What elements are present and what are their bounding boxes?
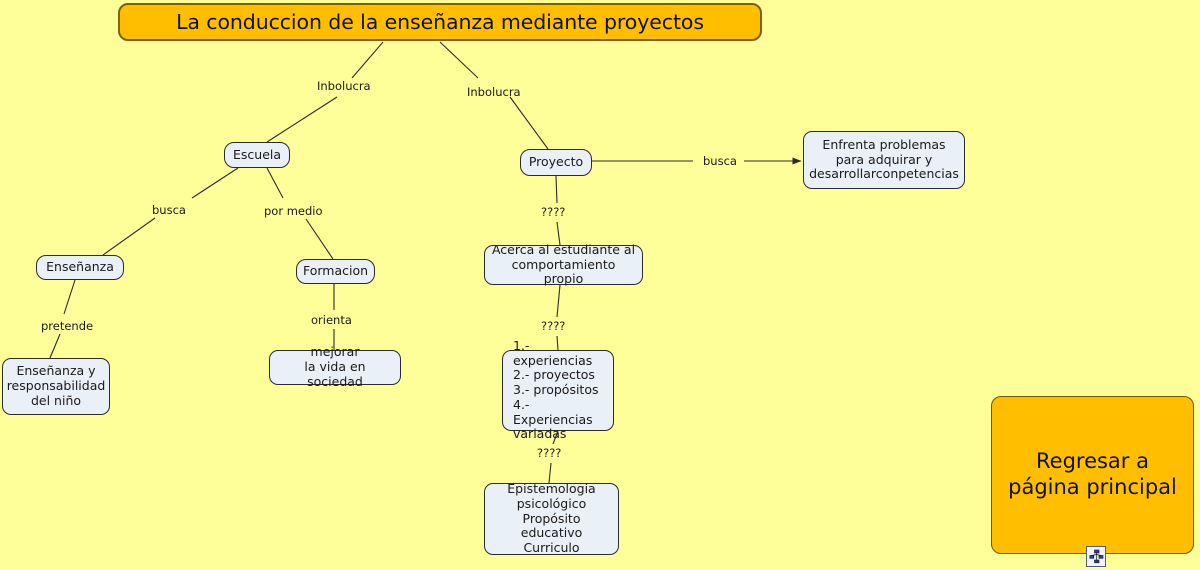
regresar-pagina-principal-button[interactable]: Regresar a página principal — [991, 396, 1194, 554]
edge-acerca-to-q2 — [557, 285, 560, 317]
edge-label-q1: ???? — [541, 205, 565, 219]
edge-label-inbolucra-right: Inbolucra — [467, 85, 521, 99]
edge-label-orienta: orienta — [311, 313, 352, 327]
edge-escuela-to-pormedio — [267, 168, 283, 198]
page-title[interactable]: La conduccion de la enseñanza mediante p… — [118, 3, 762, 41]
node-proyecto[interactable]: Proyecto — [520, 149, 592, 176]
edge-label-inbolucra-left: Inbolucra — [317, 79, 371, 93]
edge-title-to-inbolucra-right — [440, 42, 478, 78]
node-ensenanza-responsabilidad[interactable]: Enseñanza y responsabilidad del niño — [2, 358, 110, 415]
node-mejorar-vida-sociedad[interactable]: mejorar la vida en sociedad — [269, 350, 401, 385]
edge-q3-to-epistemologia — [549, 463, 551, 483]
node-enfrenta-problemas[interactable]: Enfrenta problemas para adquirar y desar… — [803, 131, 965, 189]
edge-label-por-medio: por medio — [264, 204, 323, 218]
edge-label-q3: ???? — [537, 446, 561, 460]
concept-map-canvas: La conduccion de la enseñanza mediante p… — [0, 0, 1200, 570]
edge-pormedio-to-formacion — [306, 219, 333, 259]
edge-inbolucra-left-to-escuela — [267, 97, 337, 142]
edge-label-busca-right: busca — [703, 154, 737, 168]
node-escuela[interactable]: Escuela — [224, 142, 290, 168]
node-epistemologia[interactable]: Epistemologia psicológico Propósito educ… — [484, 483, 619, 555]
edge-escuela-to-busca — [192, 168, 238, 198]
edge-label-pretende: pretende — [41, 319, 93, 333]
edge-label-q2: ???? — [541, 319, 565, 333]
node-ensenanza[interactable]: Enseñanza — [36, 255, 124, 280]
node-formacion[interactable]: Formacion — [296, 259, 375, 284]
edge-title-to-inbolucra-left — [352, 42, 383, 78]
node-acerca-estudiante[interactable]: Acerca al estudiante al comportamiento p… — [484, 245, 643, 285]
concept-map-glyph — [1089, 549, 1104, 564]
concept-map-icon[interactable] — [1086, 546, 1106, 567]
node-lista-experiencias[interactable]: 1.- experiencias 2.- proyectos 3.- propó… — [502, 350, 614, 431]
edge-inbolucra-right-to-proyecto — [510, 97, 548, 149]
edge-proyecto-to-q1 — [556, 176, 557, 203]
edge-label-busca-left: busca — [152, 203, 186, 217]
edge-pretende-to-ensenanza-resp — [50, 334, 60, 358]
edge-busca-to-ensenanza — [103, 218, 155, 255]
edge-ensenanza-to-pretende — [64, 280, 75, 314]
